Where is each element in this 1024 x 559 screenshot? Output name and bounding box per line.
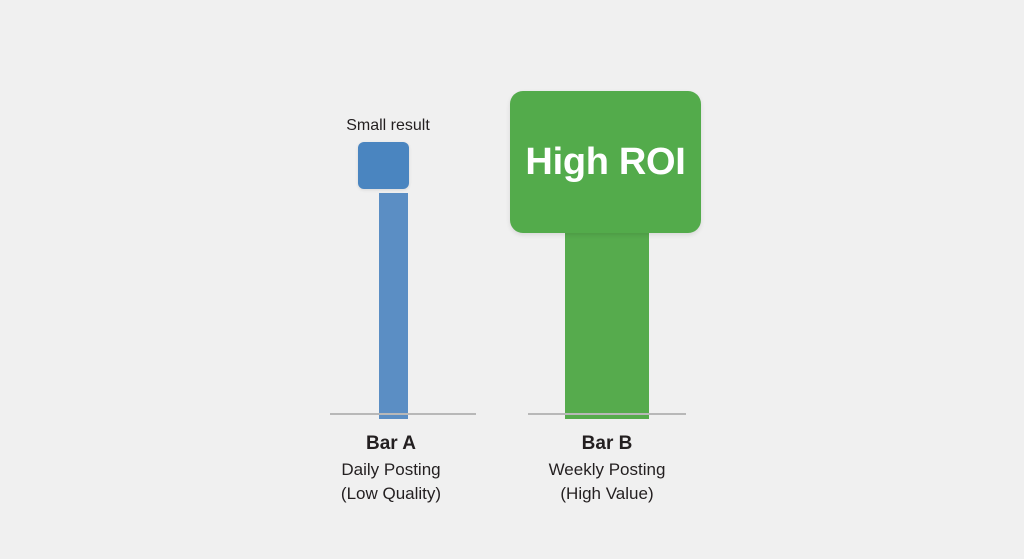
bar-b-value-card: High ROI [510, 91, 701, 233]
bar-b-caption-title: Bar B [503, 430, 711, 458]
bar-b-caption-line-1: Weekly Posting [503, 458, 711, 483]
bar-a-caption-line-1: Daily Posting [287, 458, 495, 483]
bar-b-column [565, 232, 649, 419]
bar-a-caption-line-2: (Low Quality) [287, 482, 495, 507]
bar-b-caption: Bar B Weekly Posting (High Value) [503, 430, 711, 507]
bar-a-annotation-label: Small result [288, 116, 488, 135]
bar-b-caption-line-2: (High Value) [503, 482, 711, 507]
bar-a-caption: Bar A Daily Posting (Low Quality) [287, 430, 495, 507]
bar-b-baseline [528, 413, 686, 415]
bar-a-value-card [358, 142, 409, 189]
bar-a-baseline [330, 413, 476, 415]
bar-a-caption-title: Bar A [287, 430, 495, 458]
bar-b-value-card-label: High ROI [525, 143, 685, 181]
bar-a-column [379, 193, 408, 419]
infographic-canvas: Small result Bar A Daily Posting (Low Qu… [0, 0, 1024, 559]
